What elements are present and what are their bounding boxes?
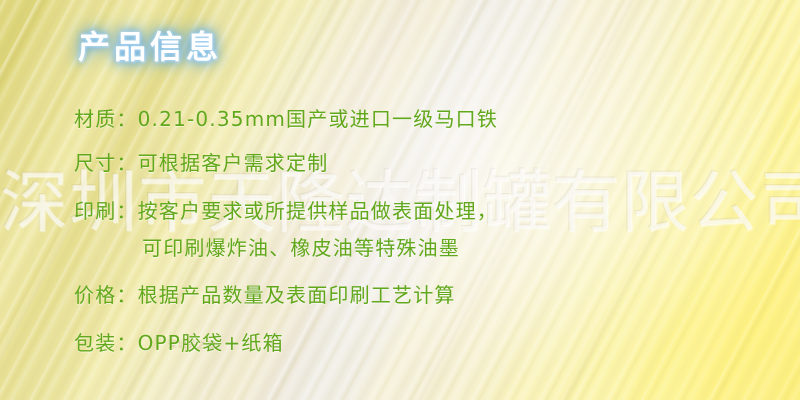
- spec-row-material: 材质：0.21-0.35mm国产或进口一级马口铁: [74, 100, 774, 138]
- spec-label-printing: 印刷：: [74, 199, 138, 223]
- spec-label-material: 材质：: [74, 107, 138, 131]
- spec-value-packaging: OPP胶袋+纸箱: [138, 331, 284, 355]
- spec-label-size: 尺寸：: [74, 151, 138, 175]
- spec-row-size: 尺寸：可根据客户需求定制: [74, 144, 774, 182]
- page-title: 产品信息: [78, 22, 222, 68]
- spec-value-size: 可根据客户需求定制: [138, 151, 329, 175]
- product-spec-list: 材质：0.21-0.35mm国产或进口一级马口铁 尺寸：可根据客户需求定制 印刷…: [74, 100, 774, 362]
- spec-value-material: 0.21-0.35mm国产或进口一级马口铁: [138, 107, 498, 131]
- spec-row-packaging: 包装：OPP胶袋+纸箱: [74, 324, 774, 362]
- spec-row-price: 价格：根据产品数量及表面印刷工艺计算: [74, 276, 774, 314]
- row-spacer: [74, 182, 774, 192]
- product-info-banner: 深圳市天隆达制罐有限公司 深圳天之罐 产品信息 材质：0.21-0.35mm国产…: [0, 0, 800, 400]
- spec-value-printing-continuation: 可印刷爆炸油、橡皮油等特殊油墨: [74, 230, 774, 266]
- spec-row-printing: 印刷：按客户要求或所提供样品做表面处理，: [74, 192, 774, 230]
- spec-label-packaging: 包装：: [74, 331, 138, 355]
- row-spacer: [74, 266, 774, 276]
- spec-value-price: 根据产品数量及表面印刷工艺计算: [138, 283, 456, 307]
- spec-value-printing: 按客户要求或所提供样品做表面处理，: [138, 199, 498, 223]
- spec-label-price: 价格：: [74, 283, 138, 307]
- row-spacer: [74, 314, 774, 324]
